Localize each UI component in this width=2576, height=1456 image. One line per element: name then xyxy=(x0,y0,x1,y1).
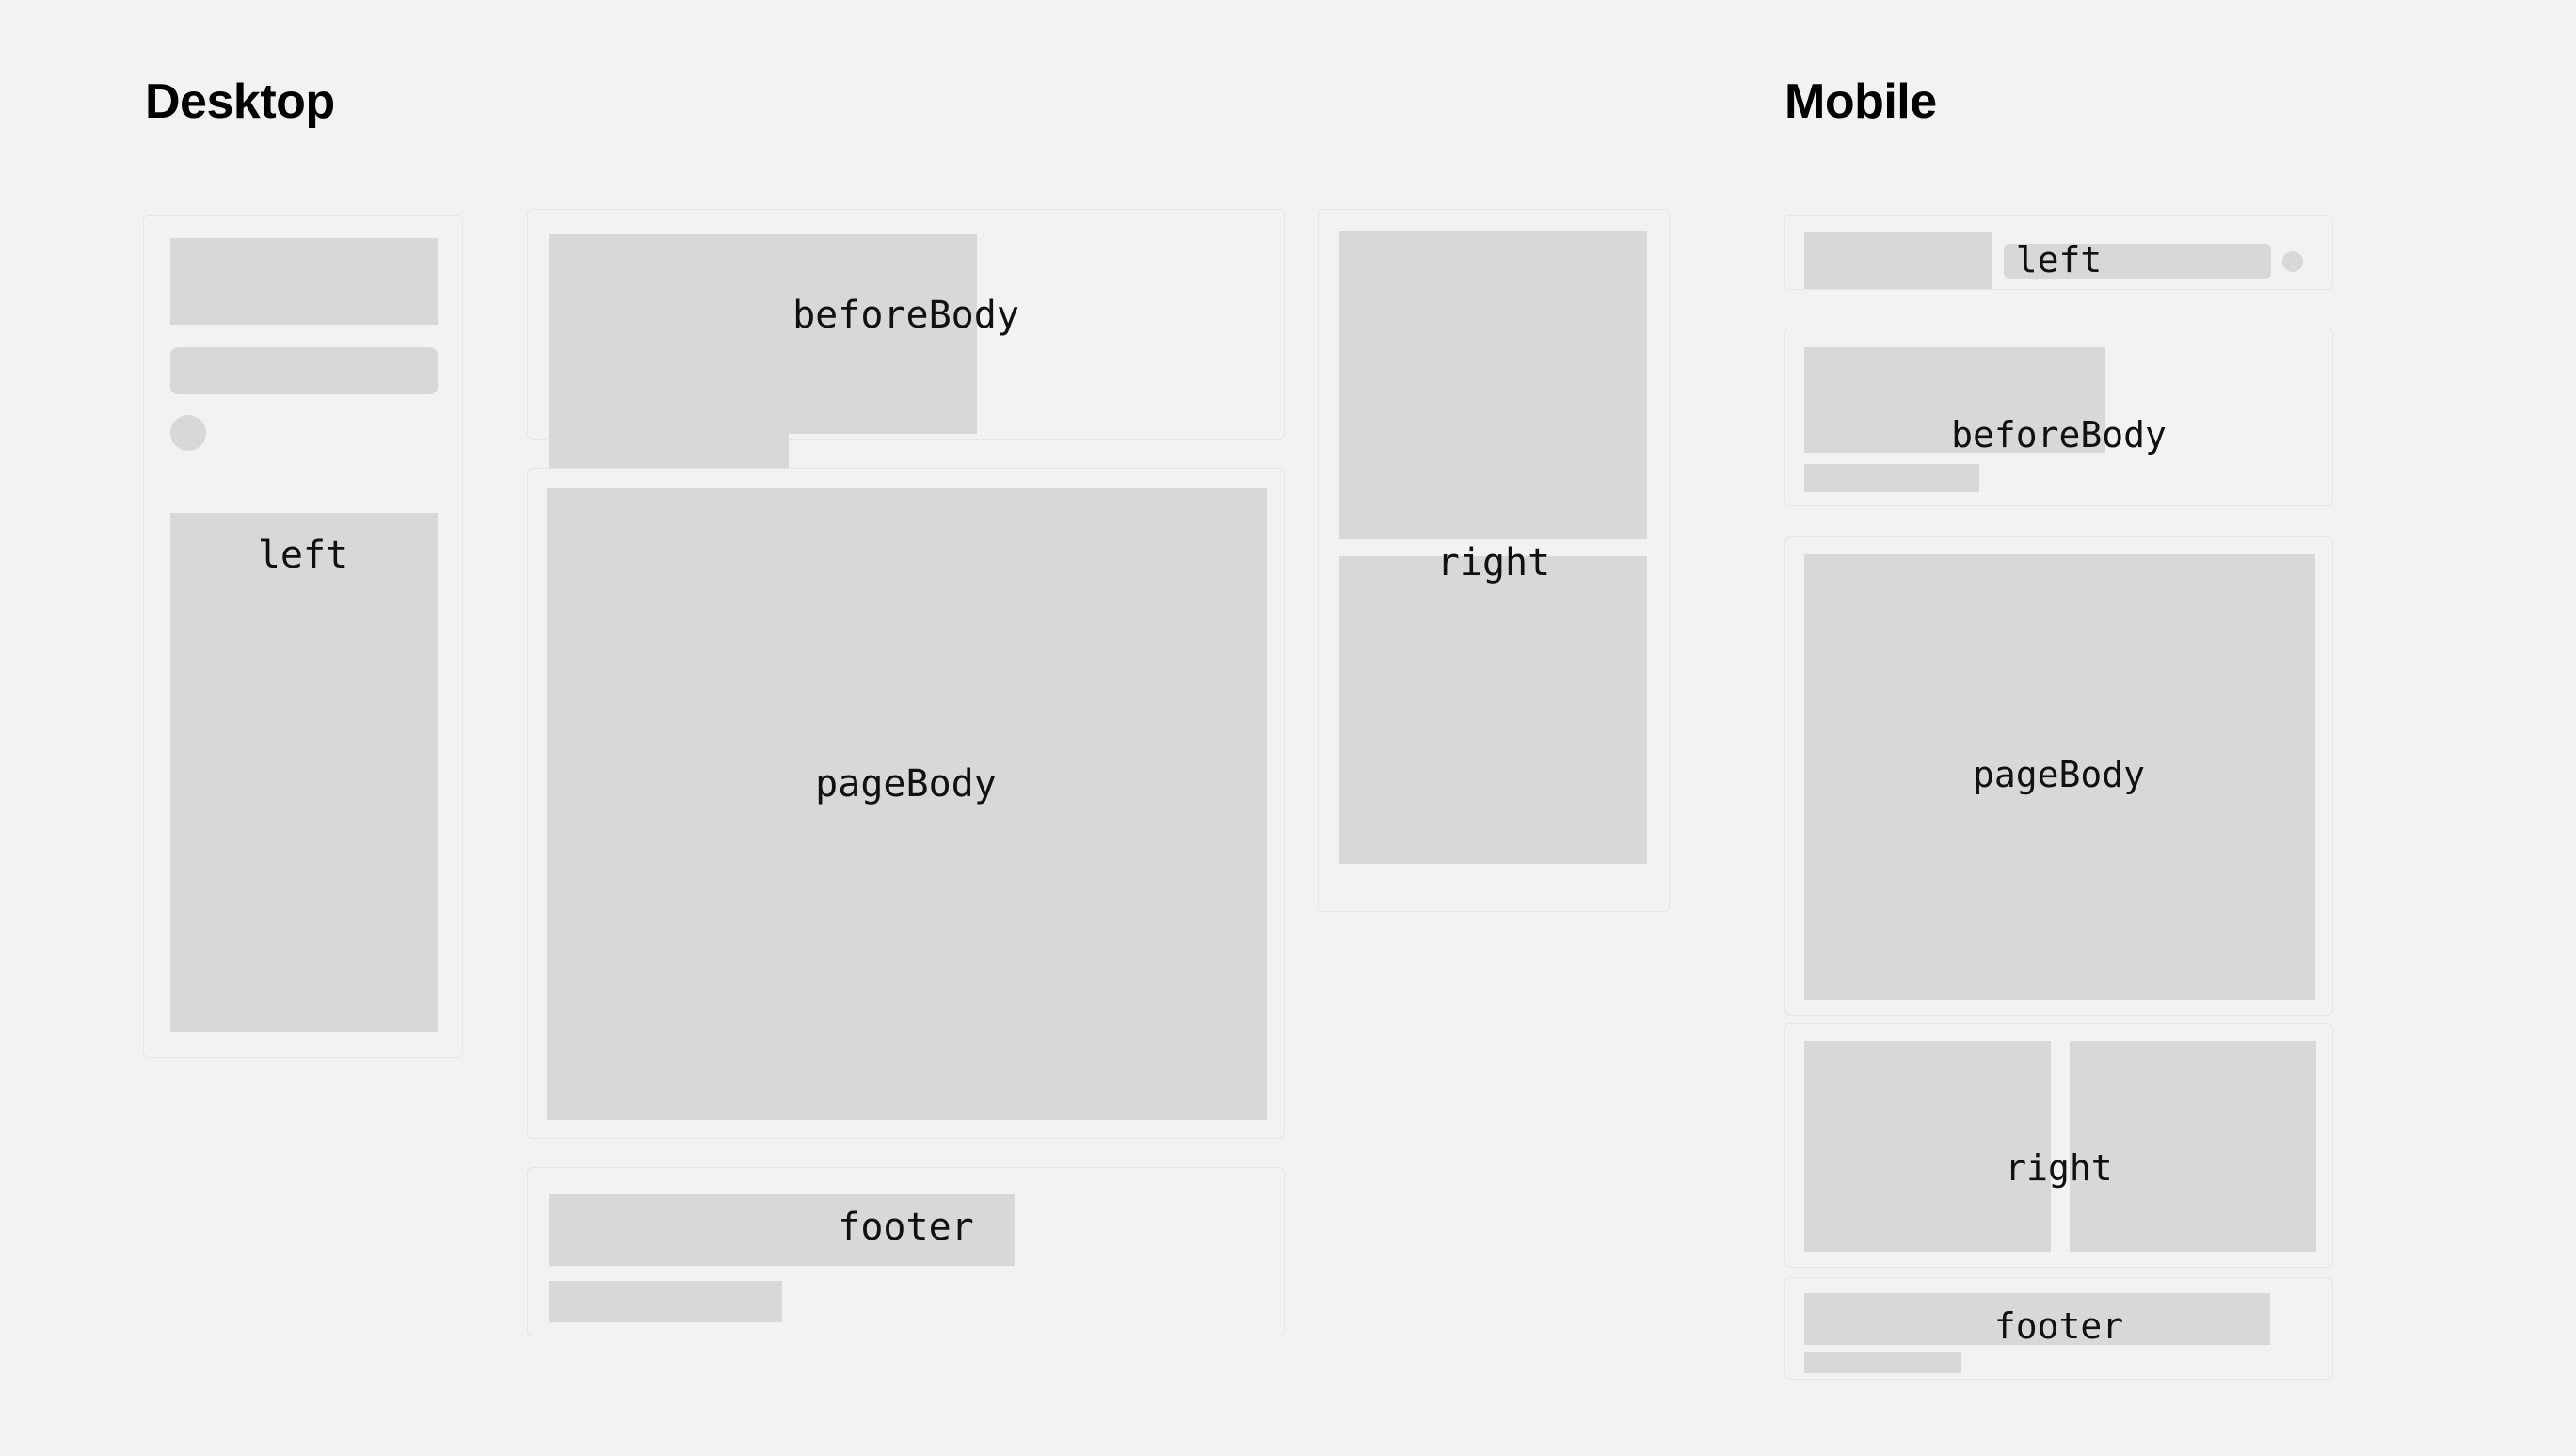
mobile-slot-right[interactable] xyxy=(1784,1023,2333,1268)
mobile-footer-small-bar xyxy=(1804,1352,1961,1373)
mobile-left-status-dot-icon xyxy=(2282,251,2303,272)
mobile-left-title-bar xyxy=(2004,244,2271,279)
mobile-slot-left[interactable] xyxy=(1784,215,2333,290)
desktop-pagebody-main-block xyxy=(547,488,1267,1120)
desktop-slot-pagebody[interactable] xyxy=(527,468,1285,1139)
desktop-left-title-bar xyxy=(170,347,438,394)
wireframe-stage: Desktop left beforeBody pageBody footer … xyxy=(0,0,2576,1456)
desktop-left-status-dot-icon xyxy=(170,415,206,451)
desktop-beforebody-hero-block xyxy=(549,234,977,434)
desktop-slot-right[interactable] xyxy=(1318,209,1670,912)
mobile-right-widget-left-block xyxy=(1804,1041,2051,1252)
mobile-slot-beforebody[interactable] xyxy=(1784,328,2333,506)
mobile-slot-footer[interactable] xyxy=(1784,1277,2333,1380)
mobile-right-widget-right-block xyxy=(2070,1041,2316,1252)
desktop-slot-left[interactable] xyxy=(143,215,463,1058)
mobile-section-title: Mobile xyxy=(1784,77,1937,126)
desktop-section-title: Desktop xyxy=(145,77,335,126)
desktop-right-widget-bottom-block xyxy=(1339,556,1647,864)
mobile-beforebody-hero-block xyxy=(1804,347,2105,453)
mobile-left-avatar-block xyxy=(1804,232,1992,289)
desktop-slot-footer[interactable] xyxy=(527,1167,1285,1336)
desktop-footer-wide-bar xyxy=(549,1194,1015,1266)
mobile-pagebody-main-block xyxy=(1804,554,2315,1000)
mobile-beforebody-caption-bar xyxy=(1804,464,1979,492)
desktop-left-content-block xyxy=(170,513,438,1032)
mobile-slot-pagebody[interactable] xyxy=(1784,536,2333,1016)
desktop-right-widget-top-block xyxy=(1339,231,1647,539)
mobile-footer-wide-bar xyxy=(1804,1293,2270,1345)
desktop-slot-beforebody[interactable] xyxy=(527,209,1285,440)
desktop-left-avatar-block xyxy=(170,238,438,325)
desktop-footer-small-bar xyxy=(549,1281,782,1322)
